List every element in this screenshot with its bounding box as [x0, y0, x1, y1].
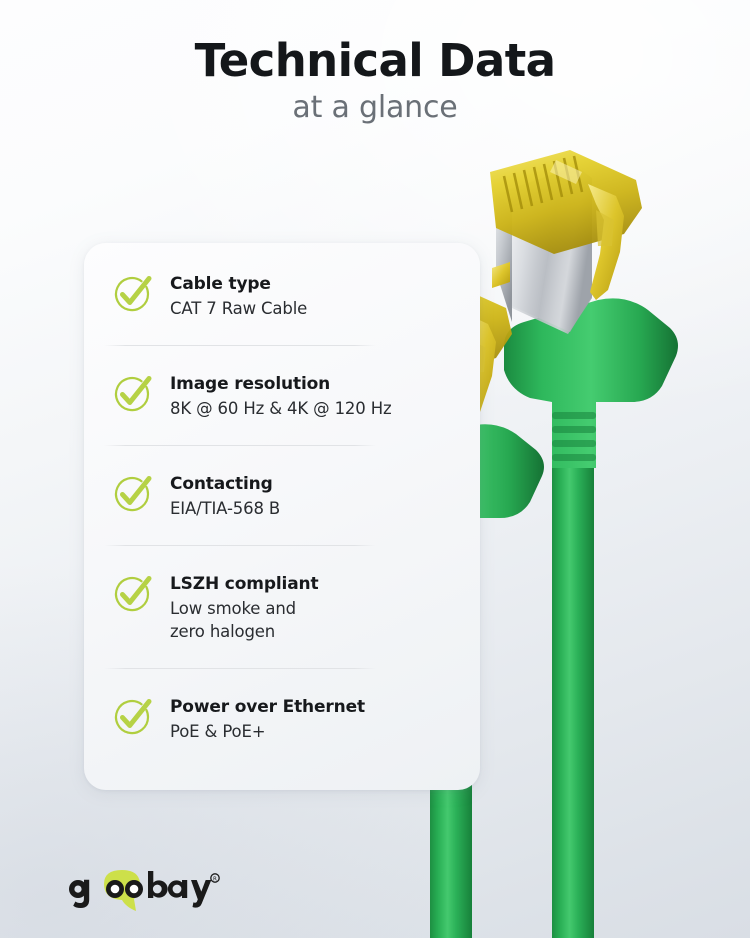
spec-list: Cable type CAT 7 Raw Cable Image resolut…: [84, 271, 480, 768]
spec-value: 8K @ 60 Hz & 4K @ 120 Hz: [170, 397, 392, 420]
spec-item-lszh-compliant: LSZH compliant Low smoke and zero haloge…: [84, 571, 480, 644]
goobay-logo: R: [48, 866, 228, 914]
spec-item-cable-type: Cable type CAT 7 Raw Cable: [84, 271, 480, 321]
registered-mark-icon: R: [211, 874, 219, 883]
check-circle-icon: [110, 272, 154, 316]
spacer: [84, 669, 480, 694]
spacer: [84, 346, 480, 371]
spec-item-image-resolution: Image resolution 8K @ 60 Hz & 4K @ 120 H…: [84, 371, 480, 421]
spec-item-contacting: Contacting EIA/TIA-568 B: [84, 471, 480, 521]
spec-title: Image resolution: [170, 374, 330, 394]
spec-text: LSZH compliant Low smoke and zero haloge…: [170, 571, 318, 644]
check-circle-icon: [110, 572, 154, 616]
spacer: [84, 644, 480, 669]
spec-item-power-over-ethernet: Power over Ethernet PoE & PoE+: [84, 694, 480, 744]
check-circle-icon: [110, 695, 154, 739]
page-subtitle: at a glance: [0, 90, 750, 126]
logo-wordmark: [69, 871, 211, 908]
spec-title: LSZH compliant: [170, 574, 318, 594]
spec-text: Image resolution 8K @ 60 Hz & 4K @ 120 H…: [170, 371, 392, 421]
page-title: Technical Data: [0, 36, 750, 86]
infographic-page: Technical Data at a glance: [0, 0, 750, 938]
spec-card: Cable type CAT 7 Raw Cable Image resolut…: [84, 243, 480, 790]
spec-text: Contacting EIA/TIA-568 B: [170, 471, 280, 521]
check-circle-icon: [110, 472, 154, 516]
spec-text: Cable type CAT 7 Raw Cable: [170, 271, 307, 321]
header: Technical Data at a glance: [0, 36, 750, 126]
svg-text:R: R: [213, 877, 217, 883]
spec-value: EIA/TIA-568 B: [170, 497, 280, 520]
spacer: [84, 546, 480, 571]
spec-value: CAT 7 Raw Cable: [170, 297, 307, 320]
spacer: [84, 420, 480, 445]
check-circle-icon: [110, 372, 154, 416]
spec-text: Power over Ethernet PoE & PoE+: [170, 694, 365, 744]
spec-title: Cable type: [170, 274, 271, 294]
spacer: [84, 446, 480, 471]
spacer: [84, 743, 480, 768]
spacer: [84, 520, 480, 545]
rj45-connector-back: [490, 150, 678, 938]
spec-value: PoE & PoE+: [170, 720, 365, 743]
spacer: [84, 321, 480, 346]
spec-title: Power over Ethernet: [170, 697, 365, 717]
spec-value: Low smoke and zero halogen: [170, 597, 318, 644]
spec-title: Contacting: [170, 474, 273, 494]
